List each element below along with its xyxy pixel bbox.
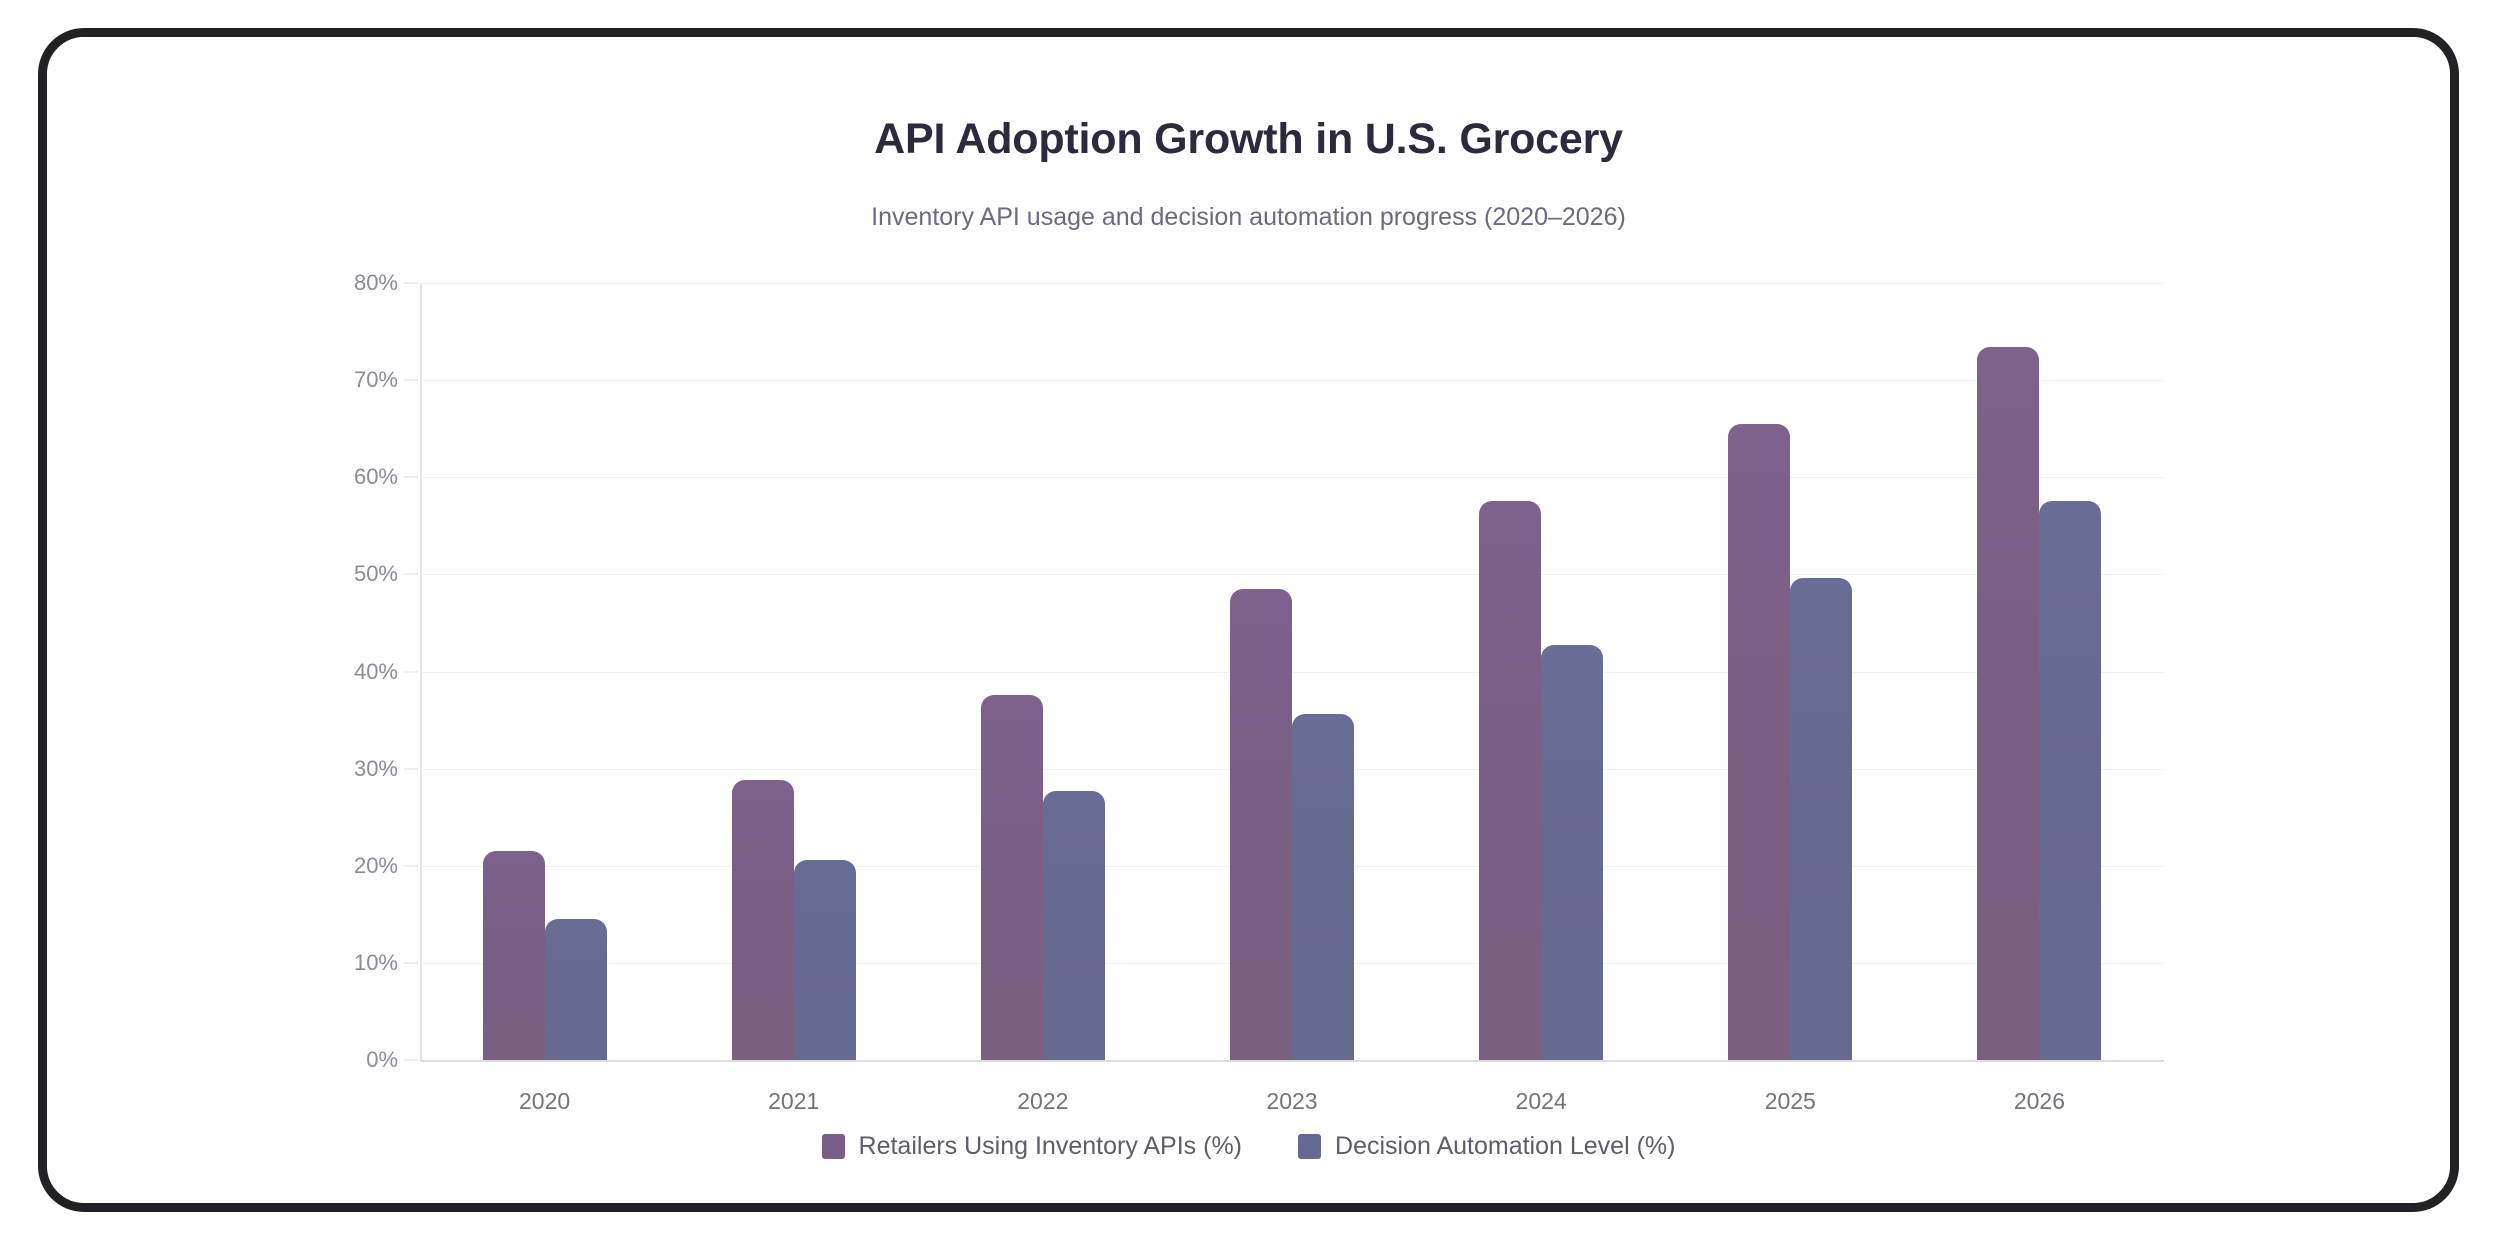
y-axis-tick-mark bbox=[404, 865, 418, 866]
bar-2026-series-1[interactable] bbox=[2039, 501, 2101, 1060]
legend-label: Retailers Using Inventory APIs (%) bbox=[859, 1132, 1242, 1161]
y-axis-tick-label: 0% bbox=[366, 1047, 398, 1073]
legend-label: Decision Automation Level (%) bbox=[1335, 1132, 1675, 1161]
device-frame: API Adoption Growth in U.S. Grocery Inve… bbox=[38, 28, 2459, 1212]
bar-2024-series-0[interactable] bbox=[1479, 501, 1541, 1060]
legend-item-0[interactable]: Retailers Using Inventory APIs (%) bbox=[822, 1132, 1242, 1161]
y-axis-tick-label: 80% bbox=[354, 270, 398, 296]
bar-2023-series-1[interactable] bbox=[1292, 714, 1354, 1060]
bar-group: 2026 bbox=[1915, 283, 2164, 1060]
x-axis-tick-label: 2023 bbox=[1167, 1088, 1416, 1115]
y-axis-tick-mark bbox=[404, 283, 418, 284]
y-axis-tick-label: 20% bbox=[354, 853, 398, 879]
bar-2021-series-0[interactable] bbox=[732, 780, 794, 1060]
x-axis-tick-label: 2025 bbox=[1666, 1088, 1915, 1115]
bar-2020-series-0[interactable] bbox=[483, 851, 545, 1060]
legend-swatch-icon bbox=[1298, 1134, 1321, 1159]
bar-group: 2021 bbox=[669, 283, 918, 1060]
y-axis-tick-label: 30% bbox=[354, 756, 398, 782]
y-axis-tick-mark bbox=[404, 671, 418, 672]
bar-group: 2024 bbox=[1417, 283, 1666, 1060]
bar-group: 2022 bbox=[918, 283, 1167, 1060]
y-axis-tick-label: 70% bbox=[354, 367, 398, 393]
screen-background: API Adoption Growth in U.S. Grocery Inve… bbox=[0, 0, 2497, 1240]
chart-card: API Adoption Growth in U.S. Grocery Inve… bbox=[47, 37, 2450, 1203]
y-axis-tick-label: 40% bbox=[354, 659, 398, 685]
y-axis-tick-label: 60% bbox=[354, 464, 398, 490]
y-axis-tick-mark bbox=[404, 1060, 418, 1061]
bar-2025-series-1[interactable] bbox=[1790, 578, 1852, 1060]
bar-groups: 2020202120222023202420252026 bbox=[420, 283, 2164, 1060]
y-axis-tick-mark bbox=[404, 962, 418, 963]
x-axis-baseline bbox=[420, 1060, 2164, 1062]
x-axis-tick-label: 2022 bbox=[918, 1088, 1167, 1115]
bar-2025-series-0[interactable] bbox=[1728, 424, 1790, 1060]
y-axis-tick-mark bbox=[404, 574, 418, 575]
legend-swatch-icon bbox=[822, 1134, 845, 1159]
y-axis-tick-mark bbox=[404, 477, 418, 478]
y-axis-tick-mark bbox=[404, 380, 418, 381]
y-axis-tick-label: 10% bbox=[354, 950, 398, 976]
bar-2022-series-0[interactable] bbox=[981, 695, 1043, 1060]
bar-group: 2020 bbox=[420, 283, 669, 1060]
bar-2020-series-1[interactable] bbox=[545, 919, 607, 1060]
bar-2024-series-1[interactable] bbox=[1541, 645, 1603, 1060]
x-axis-tick-label: 2024 bbox=[1417, 1088, 1666, 1115]
bar-2021-series-1[interactable] bbox=[794, 860, 856, 1060]
x-axis-tick-label: 2021 bbox=[669, 1088, 918, 1115]
legend-item-1[interactable]: Decision Automation Level (%) bbox=[1298, 1132, 1675, 1161]
x-axis-tick-label: 2020 bbox=[420, 1088, 669, 1115]
chart-legend: Retailers Using Inventory APIs (%)Decisi… bbox=[47, 1132, 2450, 1161]
bar-group: 2025 bbox=[1666, 283, 1915, 1060]
bar-2026-series-0[interactable] bbox=[1977, 347, 2039, 1060]
y-axis-tick-label: 50% bbox=[354, 561, 398, 587]
plot-canvas: 80%70%60%50%40%30%20%10%0% 2020202120222… bbox=[420, 283, 2164, 1060]
bar-2022-series-1[interactable] bbox=[1043, 791, 1105, 1060]
bar-group: 2023 bbox=[1167, 283, 1416, 1060]
plot-area: 80%70%60%50%40%30%20%10%0% 2020202120222… bbox=[47, 37, 2450, 1203]
y-axis-tick-mark bbox=[404, 768, 418, 769]
x-axis-tick-label: 2026 bbox=[1915, 1088, 2164, 1115]
bar-2023-series-0[interactable] bbox=[1230, 589, 1292, 1060]
